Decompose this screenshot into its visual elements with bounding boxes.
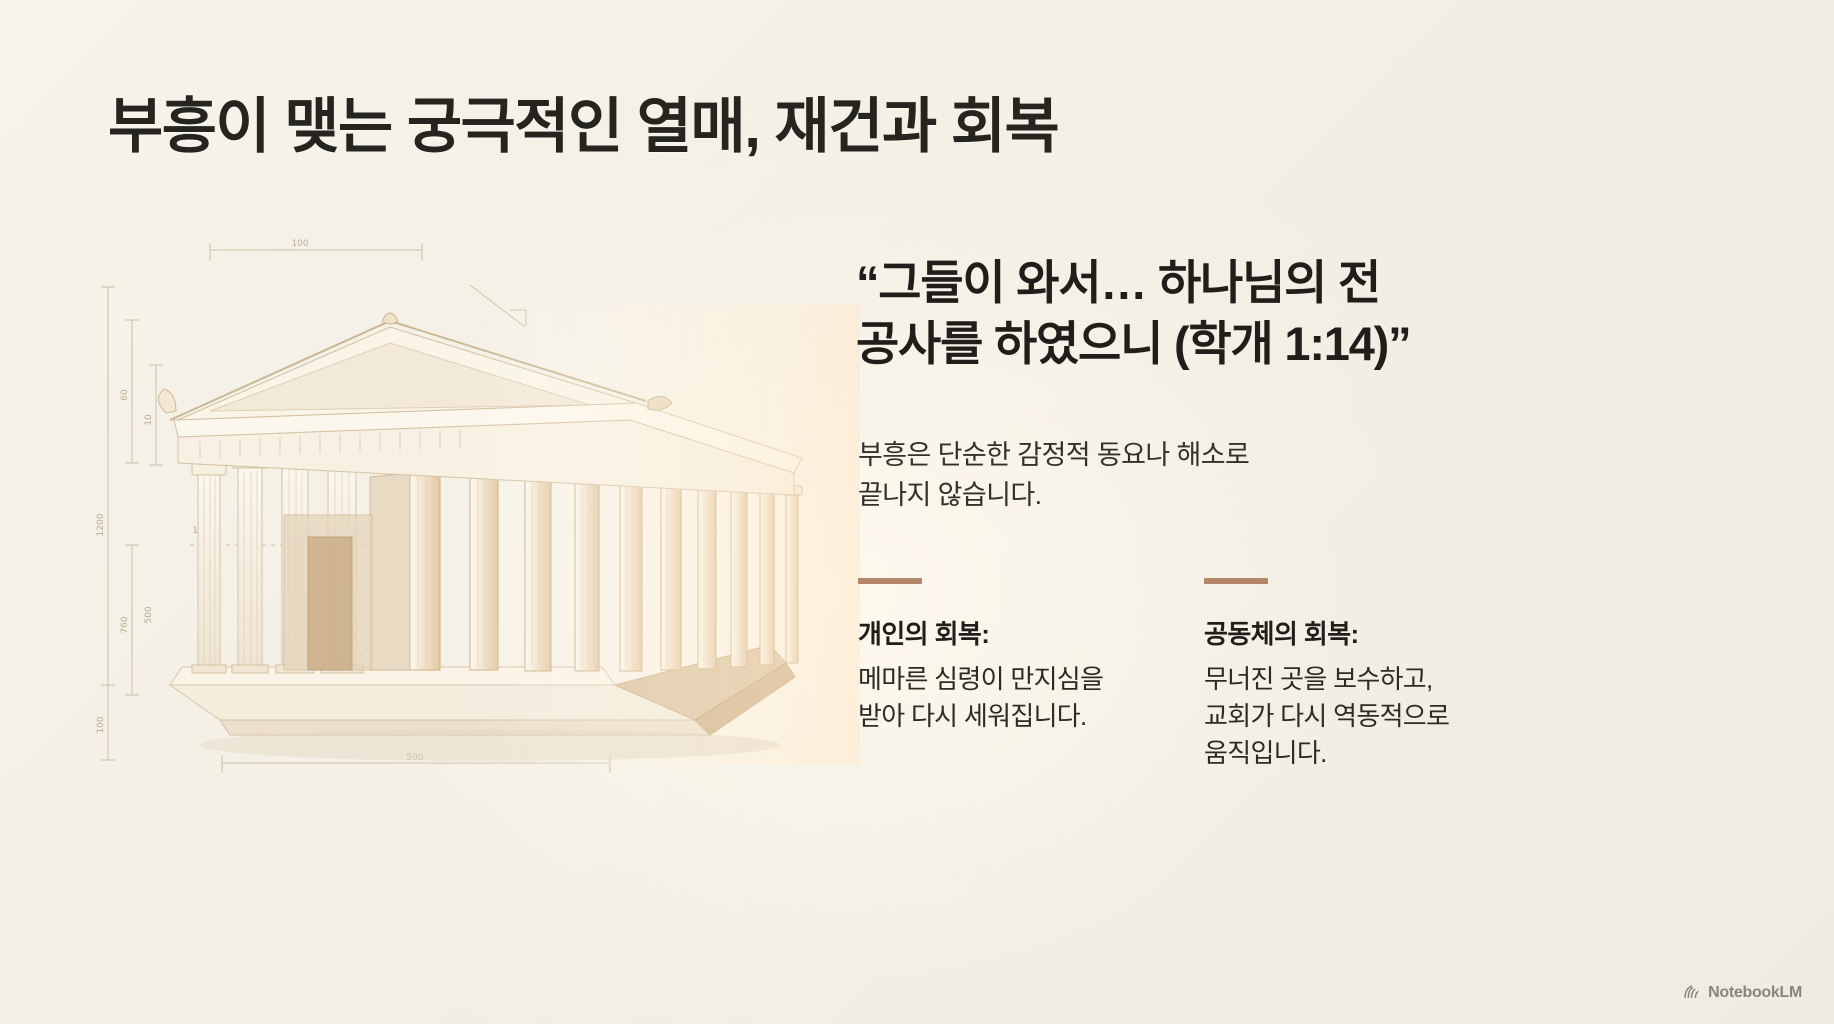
recovery-cards: 개인의 회복: 메마른 심령이 만지심을 받아 다시 세워집니다. 공동체의 회…: [848, 578, 1548, 772]
card-personal-recovery: 개인의 회복: 메마른 심령이 만지심을 받아 다시 세워집니다.: [858, 578, 1168, 772]
card-title: 개인의 회복:: [858, 614, 1168, 651]
card-community-recovery: 공동체의 회복: 무너진 곳을 보수하고, 교회가 다시 역동적으로 움직입니다…: [1204, 578, 1514, 772]
card-title: 공동체의 회복:: [1204, 614, 1514, 651]
page-title: 부흥이 맺는 궁극적인 열매, 재건과 회복: [108, 78, 1058, 165]
svg-text:100: 100: [96, 716, 106, 733]
accent-rule: [858, 578, 922, 584]
svg-text:760: 760: [120, 616, 130, 633]
lede-paragraph: 부흥은 단순한 감정적 동요나 해소로 끝나지 않습니다.: [848, 436, 1548, 516]
slide-root: 부흥이 맺는 궁극적인 열매, 재건과 회복: [0, 0, 1834, 1024]
scripture-quote: “그들이 와서… 하나님의 전 공사를 하였으니 (학개 1:14)”: [848, 252, 1548, 374]
svg-text:1200: 1200: [96, 513, 106, 536]
notebooklm-watermark: NotebookLM: [1682, 983, 1802, 1002]
notebooklm-label: NotebookLM: [1708, 984, 1802, 1002]
accent-rule: [1204, 578, 1268, 584]
card-body: 무너진 곳을 보수하고, 교회가 다시 역동적으로 움직입니다.: [1204, 661, 1514, 772]
notebooklm-logo-icon: [1682, 983, 1701, 1002]
right-content-column: “그들이 와서… 하나님의 전 공사를 하였으니 (학개 1:14)” 부흥은 …: [848, 252, 1548, 772]
svg-text:500: 500: [144, 606, 154, 623]
svg-text:100: 100: [291, 239, 308, 249]
svg-text:60: 60: [120, 389, 130, 401]
card-body: 메마른 심령이 만지심을 받아 다시 세워집니다.: [858, 661, 1168, 735]
temple-blueprint-illustration: 100 1200 60 10 760 500 100 13 81 500: [70, 215, 860, 825]
svg-text:10: 10: [144, 414, 154, 426]
